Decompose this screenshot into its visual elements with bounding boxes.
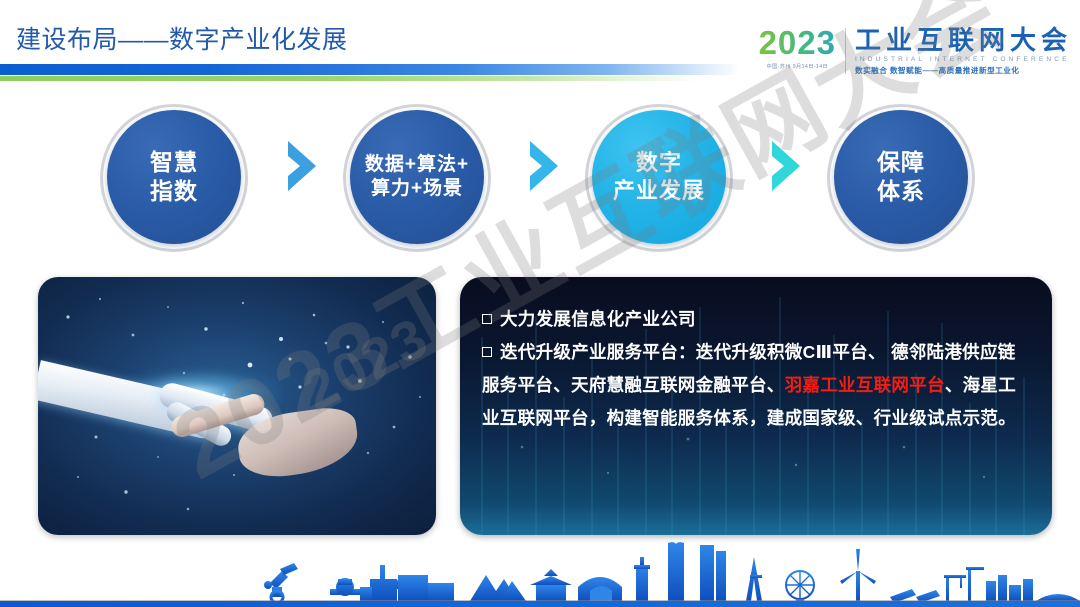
flow-node-3-label-line2: 产业发展 bbox=[613, 177, 705, 205]
flow-node-2-label-line1: 数据+算法+ bbox=[365, 153, 469, 177]
content-panel: 大力发展信息化产业公司 迭代升级产业服务平台：迭代升级积微CⅢ平台、 德邻陆港供… bbox=[460, 277, 1052, 535]
logo-divider bbox=[845, 28, 846, 74]
header-divider-blue bbox=[0, 64, 740, 75]
flow-node-2-label-line2: 算力+场景 bbox=[365, 177, 469, 201]
logo-name-block: 工业互联网大会 INDUSTRIAL INTERNET CONFERENCE 数… bbox=[855, 26, 1072, 76]
flow-node-2-disc: 数据+算法+ 算力+场景 bbox=[350, 110, 484, 244]
flow-node-1-disc: 智慧 指数 bbox=[107, 110, 241, 244]
panel-bullet-2: 迭代升级产业服务平台：迭代升级积微CⅢ平台、 德邻陆港供应链服务平台、天府慧融互… bbox=[482, 336, 1032, 435]
conference-logo: 2023 中国·苏州 9月14日-14日 工业互联网大会 INDUSTRIAL … bbox=[759, 26, 1072, 76]
flow-node-1-label-line1: 智慧 bbox=[150, 148, 198, 177]
page-title: 建设布局——数字产业化发展 bbox=[16, 20, 348, 56]
flow-node-3-disc: 数字 产业发展 bbox=[592, 110, 726, 244]
footer-skyline-decoration bbox=[0, 539, 1080, 607]
panel-bullet-1-text: 大力发展信息化产业公司 bbox=[500, 309, 696, 329]
bullet-square-icon-2 bbox=[482, 347, 492, 357]
flow-node-4-label-line2: 体系 bbox=[877, 177, 925, 206]
flow-node-1-label-line2: 指数 bbox=[150, 177, 198, 206]
bullet-square-icon-1 bbox=[482, 314, 492, 324]
panel-body-text: 大力发展信息化产业公司 迭代升级产业服务平台：迭代升级积微CⅢ平台、 德邻陆港供… bbox=[460, 277, 1052, 435]
logo-date-line: 中国·苏州 9月14日-14日 bbox=[759, 63, 836, 70]
arrow-2-icon bbox=[524, 138, 564, 194]
flow-node-3-label-line1: 数字 bbox=[613, 149, 705, 177]
logo-year-block: 2023 中国·苏州 9月14日-14日 bbox=[759, 26, 845, 70]
flow-node-4-disc: 保障 体系 bbox=[834, 110, 968, 244]
robot-human-hand-image: 2023 bbox=[38, 277, 436, 535]
logo-year: 2023 bbox=[759, 26, 836, 59]
logo-name-en: INDUSTRIAL INTERNET CONFERENCE bbox=[855, 56, 1072, 63]
panel-bullet-1: 大力发展信息化产业公司 bbox=[482, 303, 1032, 336]
panel-bullet-2-highlight: 羽嘉工业互联网平台 bbox=[785, 375, 945, 395]
arrow-1-icon bbox=[282, 138, 322, 194]
logo-name-cn: 工业互联网大会 bbox=[855, 27, 1072, 54]
header-divider-green bbox=[0, 76, 700, 81]
flow-diagram: 智慧 指数 数据+算法+ 算力+场景 数字 bbox=[0, 104, 1080, 254]
slide-canvas: 建设布局——数字产业化发展 2023 中国·苏州 9月14日-14日 工业互联网… bbox=[0, 0, 1080, 607]
flow-node-4-label-line1: 保障 bbox=[877, 148, 925, 177]
arrow-3-icon bbox=[766, 138, 806, 194]
logo-slogan: 数实融合 数智赋能——高质量推进新型工业化 bbox=[855, 65, 1072, 76]
